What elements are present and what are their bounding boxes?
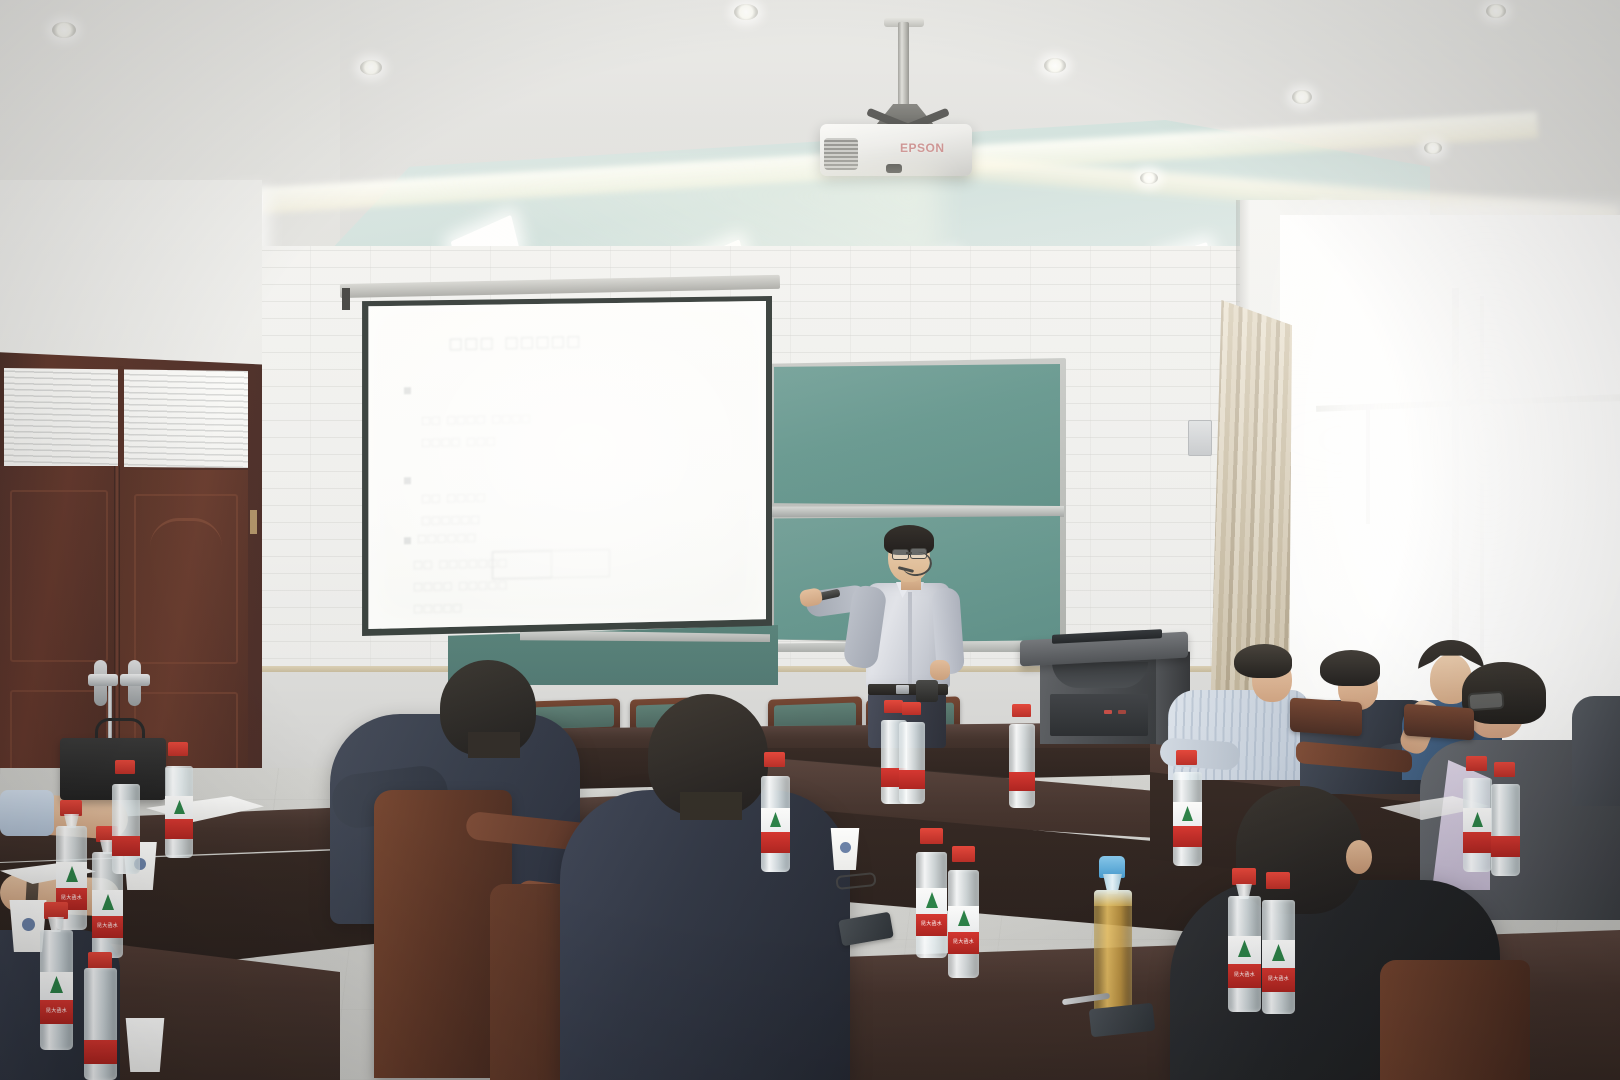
bottle-cap — [168, 742, 188, 756]
bottle-label-lower — [1491, 836, 1520, 857]
water-bottle[interactable] — [112, 784, 140, 874]
bottle-label-lower — [165, 819, 193, 839]
water-bottle[interactable] — [1491, 784, 1520, 876]
bottle-cap — [1466, 756, 1487, 771]
audience-member-head — [1236, 786, 1362, 914]
door-handle-left[interactable] — [88, 674, 118, 686]
bottle-label-lower — [899, 770, 925, 789]
bottle-label-lower — [84, 1040, 117, 1064]
water-bottle[interactable] — [899, 722, 925, 804]
door-panel-moulding — [10, 490, 108, 662]
audience-member-arm — [1159, 737, 1241, 771]
audience-member-sleeve — [0, 790, 54, 836]
audience-member-body — [560, 790, 850, 1080]
bottle-label-lower — [761, 832, 790, 853]
chalkboard-divider-rail — [770, 506, 1064, 517]
bottle-brand-text: 昆大函水 — [56, 894, 87, 901]
bottle-cap — [952, 846, 975, 862]
door-handle-right[interactable] — [120, 674, 150, 686]
projector-vent — [824, 138, 858, 170]
bottle-label-lower: 昆大函水 — [948, 932, 979, 954]
wall-switch-plate[interactable] — [1188, 420, 1212, 456]
transom-blinds — [4, 368, 248, 468]
bottle-cap — [764, 752, 785, 767]
chair[interactable] — [1290, 697, 1362, 736]
lectern-led-indicator — [1104, 710, 1112, 714]
chair[interactable] — [1404, 704, 1474, 741]
bottle-label-lower: 昆大函水 — [916, 914, 947, 936]
chalkboard-upper-panel[interactable] — [774, 364, 1060, 506]
projector-brand-label: EPSON — [900, 141, 962, 155]
bottle-cap — [44, 902, 68, 919]
bottle-label-lower — [1009, 772, 1035, 791]
bottle-cap — [60, 800, 82, 816]
presenter-shirt-placket — [908, 592, 912, 686]
bottle-cap — [1012, 704, 1031, 717]
bottle-label-lower — [1173, 826, 1202, 847]
bottle-cap — [88, 952, 112, 969]
bottle-brand-text: 昆大函水 — [916, 920, 947, 927]
lectern-control-panel[interactable] — [1050, 694, 1148, 736]
lectern-led-indicator — [1118, 710, 1126, 714]
bottle-label-lower: 昆大函水 — [1228, 964, 1261, 988]
conference-room-photo: EPSON □□□ □□□□□ □□ □□□□ □□□□ □□□□ □□□ □□… — [0, 0, 1620, 1080]
bottle-brand-text: 昆大函水 — [92, 922, 123, 929]
bottle-label-lower: 昆大函水 — [1262, 968, 1295, 992]
bottle-label-lower — [112, 836, 140, 856]
audience-member-neck — [468, 732, 520, 758]
projector-lens-icon — [886, 164, 902, 173]
lectern-recess — [1052, 662, 1148, 688]
downlight-icon — [52, 22, 76, 38]
downlight-icon — [734, 4, 758, 20]
bottle-cap — [902, 702, 921, 715]
projection-screen-bracket — [342, 288, 350, 310]
eyeglasses-icon — [1467, 691, 1504, 711]
bottle-brand-text: 昆大函水 — [40, 1007, 73, 1014]
bottle-label-lower: 昆大函水 — [40, 1000, 73, 1024]
audience-member-hair — [1234, 644, 1292, 678]
downlight-icon — [360, 60, 382, 75]
belt-buckle — [896, 685, 909, 694]
audience-member-neck — [680, 792, 742, 820]
projector-mount-pole — [898, 22, 909, 112]
bottle-brand-text: 昆大函水 — [1228, 971, 1261, 978]
bottle-brand-text: 昆大函水 — [1262, 975, 1295, 982]
bottle-cap — [884, 700, 903, 713]
chair[interactable] — [1380, 960, 1530, 1080]
tea-bottle-airspace — [1094, 890, 1132, 906]
bottle-cap — [1232, 868, 1256, 885]
downlight-icon — [1486, 4, 1506, 18]
bottle-brand-text: 昆大函水 — [948, 938, 979, 945]
bottle-label-lower — [1463, 832, 1492, 853]
audience-member-body — [1572, 696, 1620, 806]
transom-mullion — [118, 366, 124, 470]
bottle-cap — [920, 828, 943, 844]
microphone-transmitter-pack — [916, 680, 938, 702]
bottle-cap — [115, 760, 135, 774]
bottle-cap — [1494, 762, 1515, 777]
downlight-icon — [1140, 172, 1158, 184]
paper-cup-logo — [22, 918, 35, 931]
door-hinge — [250, 510, 257, 534]
bottle-cap — [1176, 750, 1197, 765]
bottle-label-lower: 昆大函水 — [92, 916, 123, 938]
water-bottle[interactable] — [1009, 724, 1035, 808]
screen-overexposure-wash — [366, 301, 766, 629]
paper-cup-logo — [840, 842, 851, 853]
downlight-icon — [1044, 58, 1066, 73]
audience-member-ear — [1346, 840, 1372, 874]
bottle-cap — [1266, 872, 1290, 889]
presenter-left-hand — [930, 660, 950, 680]
audience-member-hair — [1320, 650, 1380, 686]
downlight-icon — [1292, 90, 1312, 104]
downlight-icon — [1424, 142, 1442, 154]
